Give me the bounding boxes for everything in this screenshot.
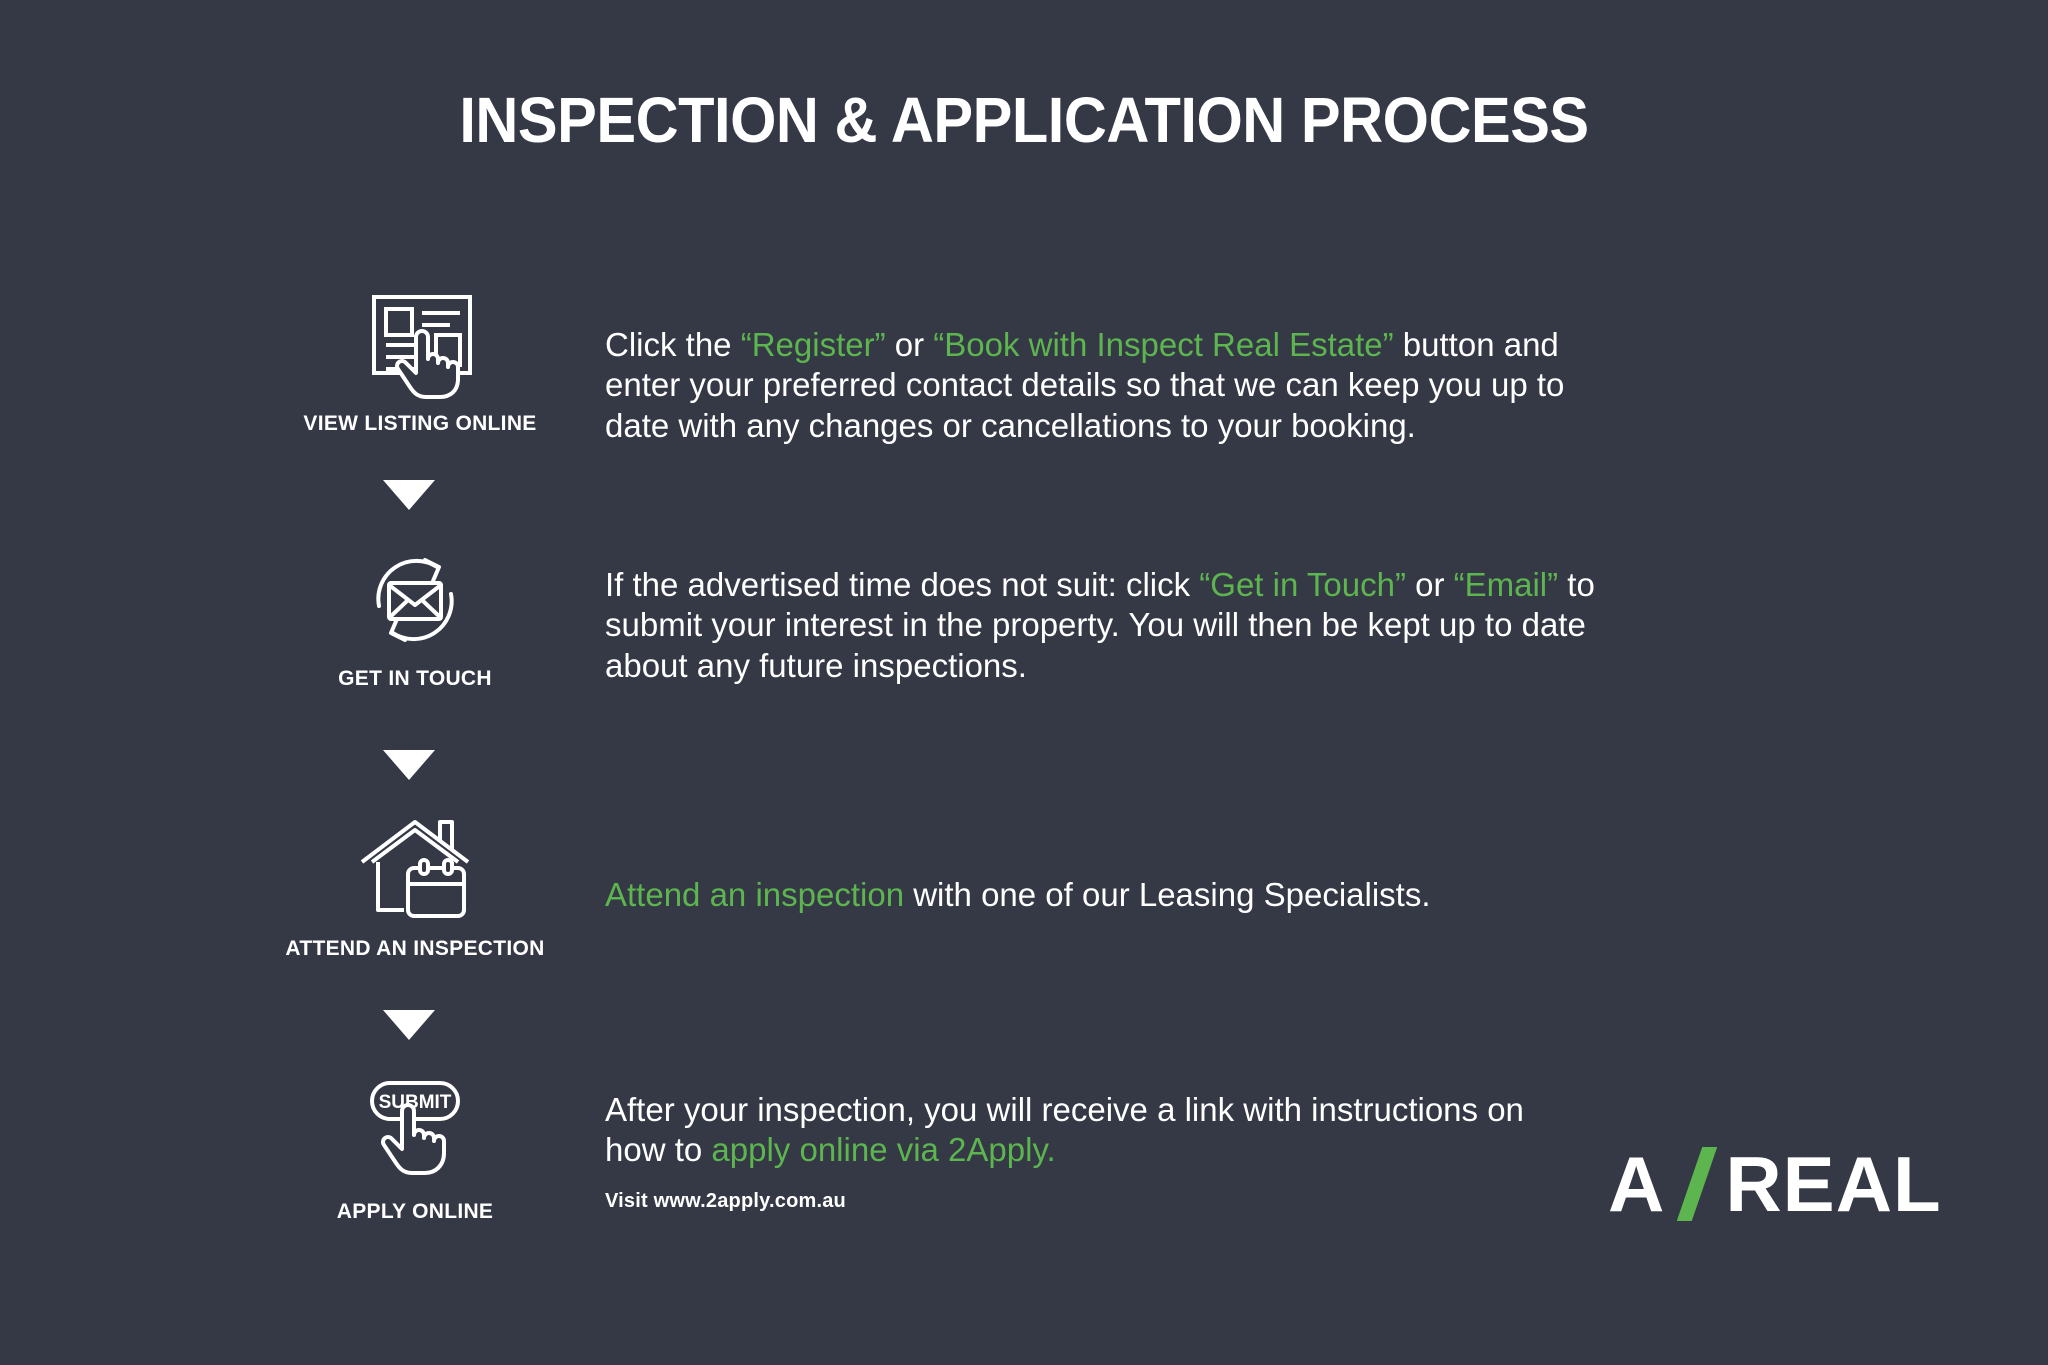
step-3-icon-column: ATTEND AN INSPECTION — [265, 815, 565, 961]
flow-arrow-2-icon — [383, 750, 435, 780]
step-1-icon-column: VIEW LISTING ONLINE — [270, 290, 570, 436]
step-3-body-text: Attend an inspection with one of our Lea… — [605, 875, 1665, 915]
flow-arrow-3-icon — [383, 1010, 435, 1040]
step-1-text-part-2: or — [886, 326, 934, 363]
areal-logo: A REAL — [1608, 1146, 1942, 1222]
infographic-canvas: INSPECTION & APPLICATION PROCESS VIEW LI… — [0, 0, 2048, 1365]
logo-letter-a: A — [1608, 1145, 1665, 1223]
submit-button-cursor-icon: SUBMIT — [265, 1078, 565, 1188]
step-2-text-part-0: If the advertised time does not suit: cl… — [605, 566, 1199, 603]
step-2-text-part-2: or — [1406, 566, 1454, 603]
logo-slash-icon — [1675, 1147, 1719, 1221]
listing-cursor-icon — [270, 290, 570, 400]
step-3-text-part-0: Attend an inspection — [605, 876, 904, 913]
step-1-label: VIEW LISTING ONLINE — [270, 412, 570, 436]
flow-arrow-1-icon — [383, 480, 435, 510]
step-4-icon-column: SUBMIT APPLY ONLINE — [265, 1078, 565, 1224]
step-1-body-text: Click the “Register” or “Book with Inspe… — [605, 325, 1615, 446]
logo-word-real: REAL — [1725, 1145, 1941, 1223]
envelope-refresh-icon — [265, 545, 565, 655]
step-1-text-part-1: “Register” — [741, 326, 886, 363]
step-3-text-part-1: with one of our Leasing Specialists. — [904, 876, 1430, 913]
step-1-text-part-3: “Book with Inspect Real Estate” — [933, 326, 1393, 363]
step-2-icon-column: GET IN TOUCH — [265, 545, 565, 691]
step-1-text-part-0: Click the — [605, 326, 741, 363]
step-2-label: GET IN TOUCH — [265, 667, 565, 691]
step-4-label: APPLY ONLINE — [265, 1200, 565, 1224]
step-2-text-part-3: “Email” — [1454, 566, 1559, 603]
visit-url-note: Visit www.2apply.com.au — [605, 1190, 846, 1213]
page-title: INSPECTION & APPLICATION PROCESS — [72, 88, 1977, 152]
step-3-label: ATTEND AN INSPECTION — [265, 937, 565, 961]
house-calendar-icon — [265, 815, 565, 925]
step-4-text-part-1: apply online via 2Apply. — [711, 1131, 1055, 1168]
step-4-body-text: After your inspection, you will receive … — [605, 1090, 1565, 1171]
step-2-body-text: If the advertised time does not suit: cl… — [605, 565, 1615, 686]
step-2-text-part-1: “Get in Touch” — [1199, 566, 1406, 603]
